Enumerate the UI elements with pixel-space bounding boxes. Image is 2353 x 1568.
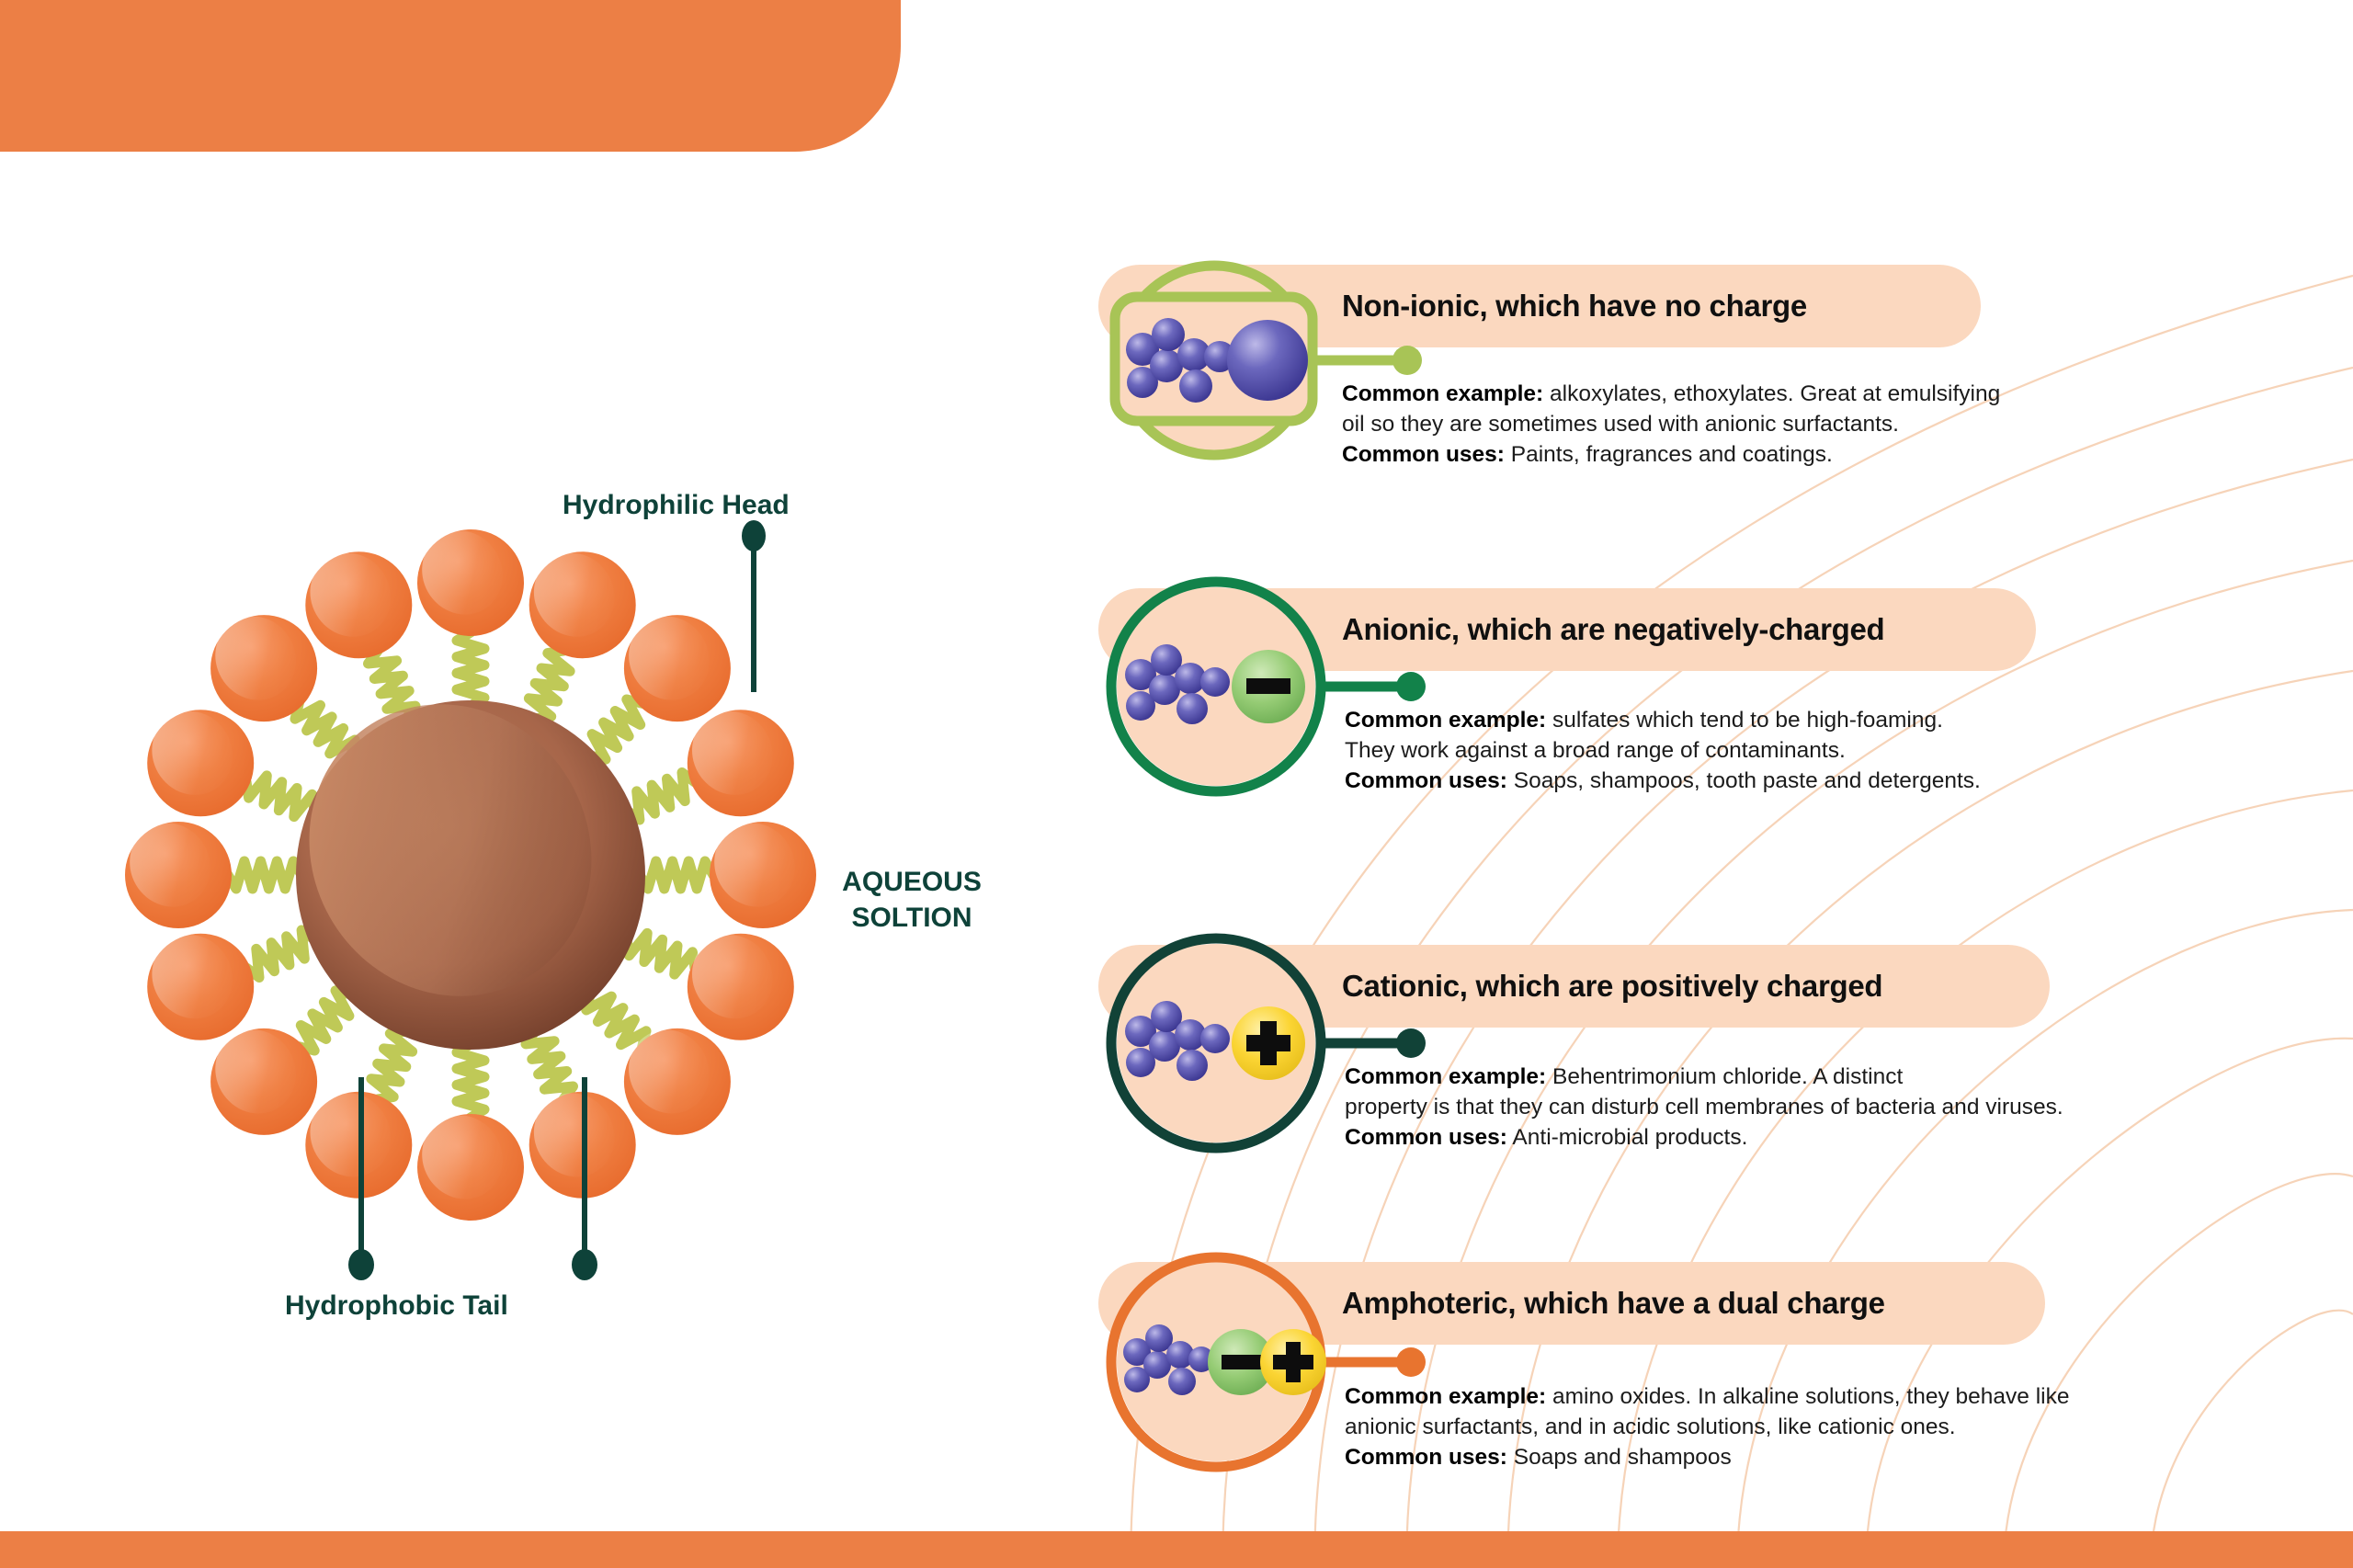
body-value-1: alkoxylates, ethoxylates. Great at emuls… xyxy=(1543,381,2000,406)
body-line-2: property is that they can disturb cell m… xyxy=(1345,1092,2319,1122)
micelle-diagram xyxy=(55,460,1029,1333)
body-value-2: They work against a broad range of conta… xyxy=(1345,738,1846,763)
card-body: Common example: Behentrimonium chloride.… xyxy=(1345,1062,2319,1153)
body-line-1: Common example: sulfates which tend to b… xyxy=(1345,705,2319,735)
body-value-3: Anti-microbial products. xyxy=(1507,1125,1747,1150)
title-bar xyxy=(0,0,901,152)
body-value-3: Soaps, shampoos, tooth paste and deterge… xyxy=(1507,768,1981,793)
body-value-1: Behentrimonium chloride. A distinct xyxy=(1546,1064,1903,1089)
body-value-2: oil so they are sometimes used with anio… xyxy=(1342,412,1899,437)
body-label-1: Common example: xyxy=(1345,1384,1546,1409)
card-body: Common example: sulfates which tend to b… xyxy=(1345,705,2319,796)
body-line-3: Common uses: Soaps, shampoos, tooth past… xyxy=(1345,766,2319,796)
card-body: Common example: amino oxides. In alkalin… xyxy=(1345,1381,2319,1472)
micelle-leader-lines xyxy=(55,460,1029,1333)
body-line-2: oil so they are sometimes used with anio… xyxy=(1342,409,2316,439)
body-value-2: property is that they can disturb cell m… xyxy=(1345,1095,2063,1119)
body-value-3: Paints, fragrances and coatings. xyxy=(1505,442,1833,467)
body-line-1: Common example: Behentrimonium chloride.… xyxy=(1345,1062,2319,1092)
body-line-3: Common uses: Paints, fragrances and coat… xyxy=(1342,439,2316,470)
body-label-3: Common uses: xyxy=(1345,768,1507,793)
body-label-3: Common uses: xyxy=(1345,1125,1507,1150)
body-label-1: Common example: xyxy=(1345,1064,1546,1089)
body-label-1: Common example: xyxy=(1345,708,1546,733)
card-body: Common example: alkoxylates, ethoxylates… xyxy=(1342,379,2316,470)
body-line-1: Common example: alkoxylates, ethoxylates… xyxy=(1342,379,2316,409)
body-label-3: Common uses: xyxy=(1342,442,1505,467)
body-line-1: Common example: amino oxides. In alkalin… xyxy=(1345,1381,2319,1412)
body-value-1: amino oxides. In alkaline solutions, the… xyxy=(1546,1384,2069,1409)
body-label-3: Common uses: xyxy=(1345,1445,1507,1470)
body-value-2: anionic surfactants, and in acidic solut… xyxy=(1345,1415,1956,1439)
body-line-2: They work against a broad range of conta… xyxy=(1345,735,2319,766)
body-value-1: sulfates which tend to be high-foaming. xyxy=(1546,708,1943,733)
body-value-3: Soaps and shampoos xyxy=(1507,1445,1732,1470)
body-line-3: Common uses: Soaps and shampoos xyxy=(1345,1442,2319,1472)
body-line-3: Common uses: Anti-microbial products. xyxy=(1345,1122,2319,1153)
body-line-2: anionic surfactants, and in acidic solut… xyxy=(1345,1412,2319,1442)
footer-bar xyxy=(0,1531,2353,1568)
body-label-1: Common example: xyxy=(1342,381,1543,406)
